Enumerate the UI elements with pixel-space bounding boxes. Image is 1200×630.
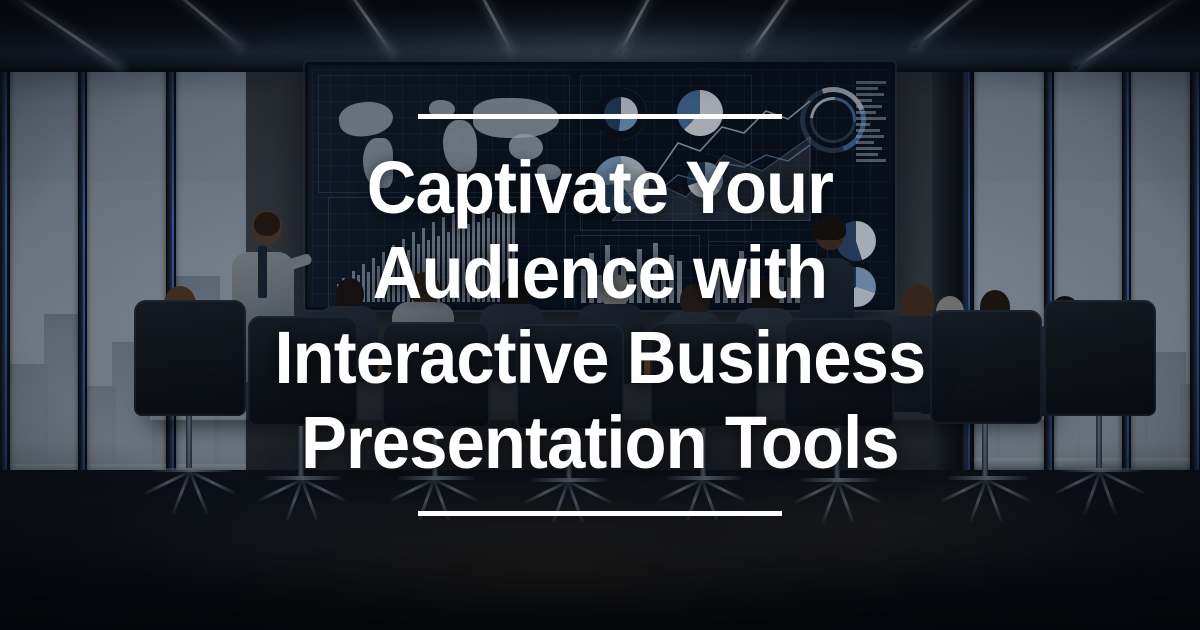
headline-overlay: Captivate Your Audience with Interactive… bbox=[0, 0, 1200, 630]
rule-bottom bbox=[418, 511, 782, 516]
page-title: Captivate Your Audience with Interactive… bbox=[275, 145, 926, 485]
og-banner: Captivate Your Audience with Interactive… bbox=[0, 0, 1200, 630]
rule-top bbox=[418, 114, 782, 119]
